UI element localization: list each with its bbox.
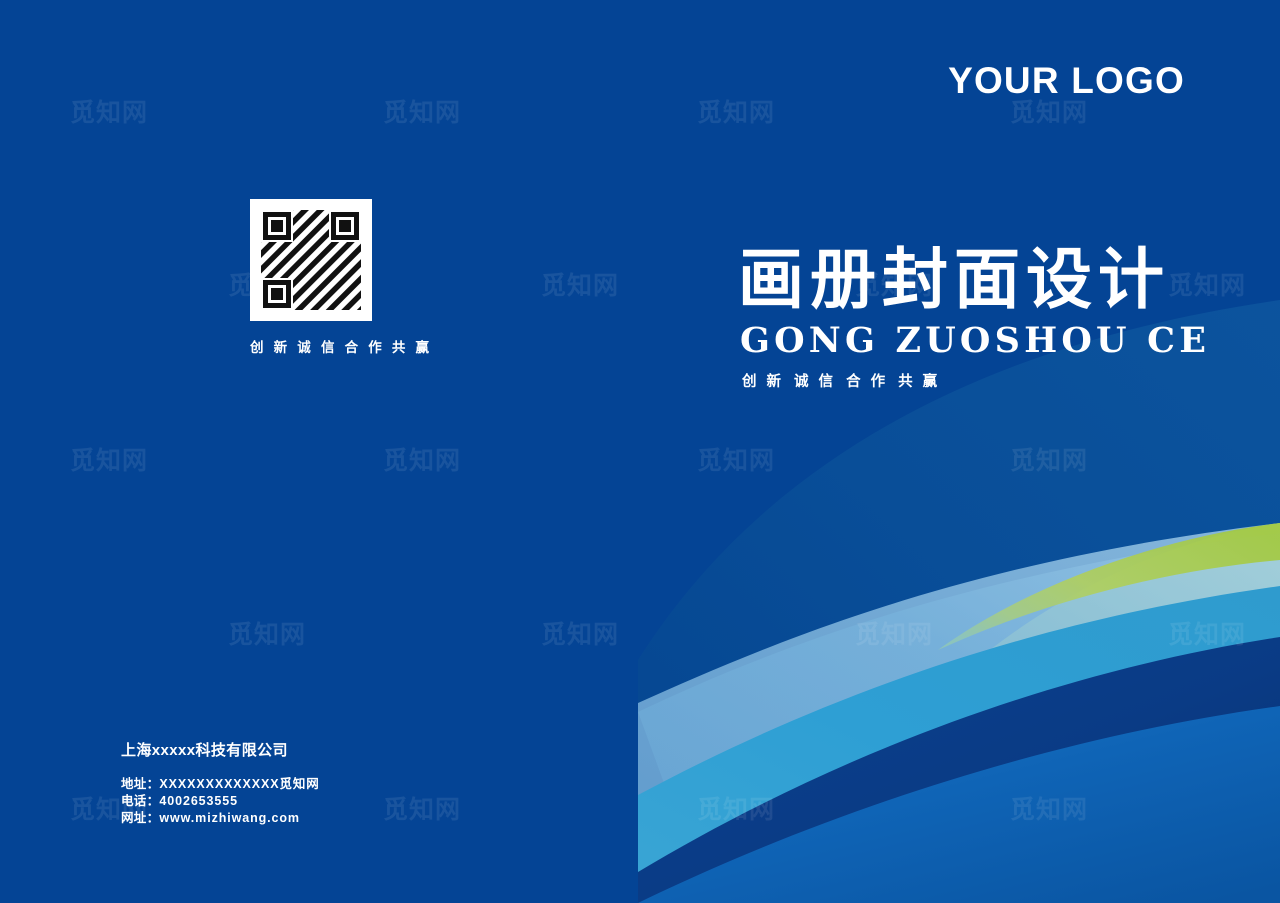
watermark-13: 觅知网 [541,622,619,647]
address-label: 地址： [121,777,159,791]
watermark-8: 觅知网 [70,448,148,473]
slogan-part-3: 合 作 [846,374,888,390]
contact-website-line: 网址：www.mizhiwang.com [121,810,320,827]
watermark-1: 觅知网 [383,100,461,125]
slogan-part-2: 诚 信 [794,374,836,390]
watermark-0: 觅知网 [70,100,148,125]
logo-text: YOUR LOGO [948,62,1185,99]
qr-code-icon[interactable] [250,199,372,321]
contact-phone-line: 电话：4002653555 [121,793,320,810]
brochure-cover: 觅知网觅知网觅知网觅知网觅知网觅知网觅知网觅知网觅知网觅知网觅知网觅知网觅知网觅… [0,0,1280,903]
slogan-part-4: 共 赢 [898,374,940,390]
qr-slogan: 创 新 诚 信 合 作 共 赢 [200,336,372,356]
contact-block: 上海xxxxx科技有限公司 地址：XXXXXXXXXXXXX觅知网 电话：400… [121,743,320,827]
watermark-17: 觅知网 [383,797,461,822]
website-value[interactable]: www.mizhiwang.com [159,811,300,825]
title-slogan: 创 新诚 信合 作共 赢 [742,375,1210,390]
company-name: 上海xxxxx科技有限公司 [121,743,320,758]
watermark-5: 觅知网 [541,273,619,298]
title-block: 画册封面设计 GONG ZUOSHOU CE 创 新诚 信合 作共 赢 [738,246,1210,390]
qr-block: 创 新 诚 信 合 作 共 赢 [250,199,372,356]
page-subtitle: GONG ZUOSHOU CE [740,323,1210,358]
contact-address-line: 地址：XXXXXXXXXXXXX觅知网 [121,776,320,793]
wave-graphic-svg [638,0,1280,903]
wave-graphic-panel [638,0,1280,903]
phone-label: 电话： [121,794,159,808]
slogan-part-1: 创 新 [742,374,784,390]
phone-value: 4002653555 [159,794,238,808]
page-title: 画册封面设计 [738,246,1210,313]
watermark-12: 觅知网 [228,622,306,647]
website-label: 网址： [121,811,159,825]
watermark-9: 觅知网 [383,448,461,473]
address-value: XXXXXXXXXXXXX觅知网 [159,777,319,791]
